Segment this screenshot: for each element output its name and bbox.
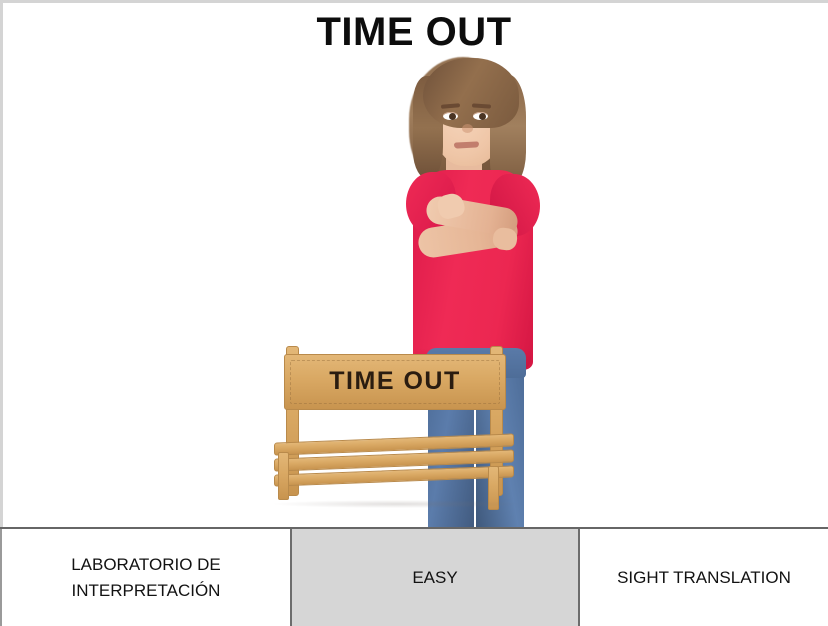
hair-bangs <box>423 58 519 128</box>
nav-label-easy: EASY <box>412 565 457 591</box>
pupil-left <box>449 113 456 120</box>
nose <box>462 124 473 133</box>
bottom-navigation-bar: LABORATORIO DE INTERPRETACIÓN EASY SIGHT… <box>0 527 828 626</box>
time-out-photo: TIME OUT <box>250 52 580 515</box>
slide-top-border <box>0 0 828 3</box>
page-title: TIME OUT <box>0 10 828 54</box>
pupil-right <box>479 113 486 120</box>
bench-leg-left <box>278 452 289 500</box>
nav-label-sight-translation: SIGHT TRANSLATION <box>617 565 791 591</box>
slide-left-border <box>0 0 3 527</box>
nav-cell-easy[interactable]: EASY <box>290 529 580 626</box>
nav-cell-sight-translation[interactable]: SIGHT TRANSLATION <box>580 529 828 626</box>
bench-shadow <box>274 500 522 508</box>
bench-engraved-label: TIME OUT <box>284 362 506 400</box>
slide-canvas: TIME OUT <box>0 0 828 626</box>
time-out-bench: TIME OUT <box>274 340 524 510</box>
nav-label-laboratorio-de-interpretacion: LABORATORIO DE INTERPRETACIÓN <box>10 552 282 604</box>
nav-cell-laboratorio-de-interpretacion[interactable]: LABORATORIO DE INTERPRETACIÓN <box>0 529 290 626</box>
